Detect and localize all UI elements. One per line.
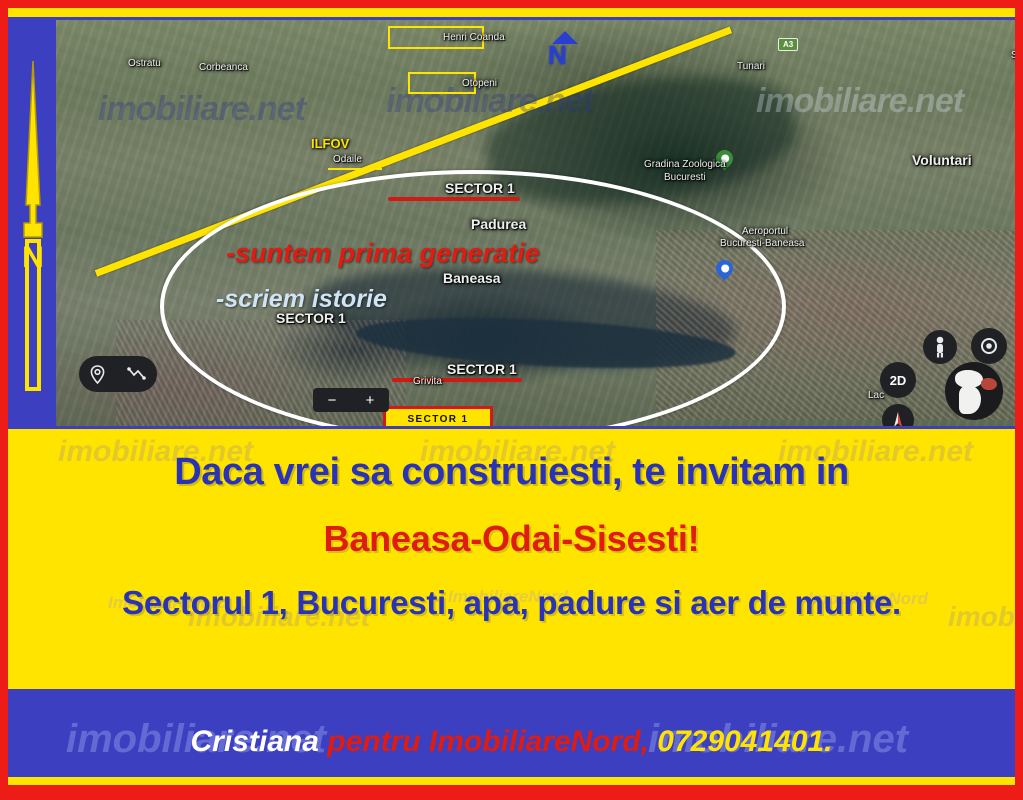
view-mode-button[interactable]: 2D — [880, 362, 916, 398]
map-label: Gradina Zoologica — [644, 159, 726, 170]
sector1-boxed-label: SECTOR 1 — [383, 406, 493, 426]
zoom-controls[interactable]: − + — [313, 388, 389, 412]
globe-button[interactable] — [945, 362, 1003, 420]
map-panel[interactable]: N imobiliare.net imobiliare.net imobilia… — [8, 17, 1015, 429]
sector1-underline-bottom — [392, 378, 522, 382]
map-label: Ostratu — [128, 58, 161, 69]
north-triangle-icon — [552, 31, 578, 44]
map-label: Tunari — [737, 61, 765, 72]
map-label: Grivita — [413, 376, 442, 387]
map-label: SECTOR 1 — [445, 180, 515, 196]
map-label: Bucuresti-Baneasa — [720, 238, 805, 249]
map-bottom-left-controls[interactable] — [79, 356, 157, 392]
locate-button[interactable] — [971, 328, 1007, 364]
compass-icon — [890, 410, 906, 426]
zoom-out-button[interactable]: − — [328, 392, 337, 409]
pegman-button[interactable] — [923, 330, 957, 364]
map-label: ILFOV — [311, 136, 349, 151]
map-watermark: imobiliare.net — [98, 90, 305, 129]
slogan-primary: -suntem prima generatie — [226, 238, 540, 269]
underline-odaile — [328, 168, 382, 170]
map-label: Otopeni — [462, 78, 497, 89]
map-north-marker: N — [548, 40, 567, 71]
route-icon[interactable] — [127, 366, 147, 382]
map-label: Corbeanca — [199, 62, 248, 73]
map-label: Aeroportul — [742, 226, 788, 237]
poster-root: N imobiliare.net imobiliare.net imobilia… — [0, 0, 1023, 800]
satellite-imagery[interactable]: imobiliare.net imobiliare.net imobiliare… — [56, 20, 1015, 426]
top-yellow-rule — [8, 8, 1015, 17]
north-arrow-icon: N — [18, 55, 48, 395]
bottom-yellow-rule — [8, 777, 1015, 785]
map-watermark: imobiliare.net — [756, 82, 963, 121]
locate-icon — [979, 336, 999, 356]
map-label: Bucuresti — [664, 172, 706, 183]
globe-land-icon — [981, 378, 997, 390]
globe-land-icon — [959, 386, 981, 414]
sector1-boxed-label-text: SECTOR 1 — [407, 414, 468, 425]
place-pin-icon[interactable] — [89, 365, 106, 384]
pegman-icon — [932, 336, 948, 358]
band-headline-3: Sectorul 1, Bucuresti, apa, padure si ae… — [8, 584, 1015, 622]
compass-rail: N — [8, 17, 56, 429]
contact-middle: pentru ImobiliareNord, — [327, 725, 649, 758]
sector1-underline-top — [388, 197, 520, 201]
band-headline-2: Baneasa-Odai-Sisesti! — [8, 518, 1015, 560]
message-band: imobiliare.net imobiliare.net imobiliare… — [8, 429, 1015, 689]
zoom-in-button[interactable]: + — [366, 392, 375, 409]
map-label: Voluntari — [912, 152, 972, 168]
map-label: SECTOR 1 — [447, 361, 517, 377]
map-label: Henri Coanda — [443, 32, 505, 43]
road-badge-a3: A3 — [778, 38, 798, 51]
slogan-secondary: -scriem istorie — [216, 285, 387, 314]
contact-line: Cristiana pentru ImobiliareNord, 0729041… — [8, 725, 1015, 759]
map-label: Odaile — [333, 154, 362, 165]
map-label: Lac — [868, 390, 884, 401]
compass-north-letter: N — [22, 241, 44, 274]
map-label: Baneasa — [443, 270, 501, 286]
band-headline-1: Daca vrei sa construiesti, te invitam in — [8, 451, 1015, 494]
contact-name: Cristiana — [191, 725, 319, 758]
contact-phone[interactable]: 0729041401. — [657, 725, 832, 758]
map-label: Padurea — [471, 216, 526, 232]
view-mode-label: 2D — [890, 373, 907, 388]
airport-poi[interactable] — [716, 260, 734, 284]
map-label: Stefanestii — [1011, 50, 1015, 61]
airport-pin-icon — [712, 256, 736, 280]
contact-footer: imobiliare.net imobiliare.net Cristiana … — [8, 689, 1015, 777]
